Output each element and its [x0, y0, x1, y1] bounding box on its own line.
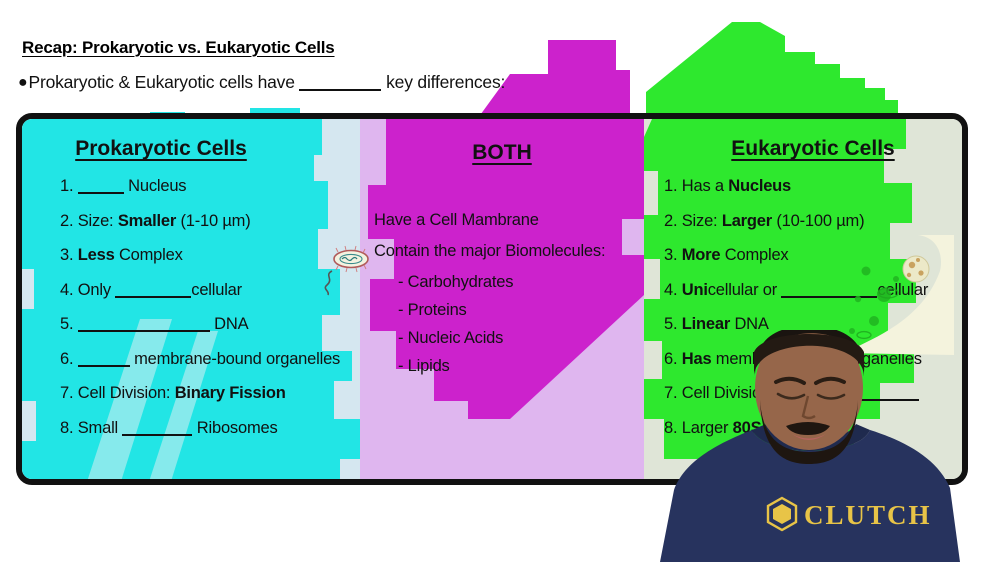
list-item-number: 2. [664, 212, 682, 230]
both-item: Have a Cell Mambrane [374, 211, 605, 230]
list-item-text: Linear DNA [682, 315, 769, 333]
list-item-text: membrane-bound organelles [78, 350, 340, 368]
column-heading-eukaryotic: Eukaryotic Cells [654, 137, 962, 161]
prokaryotic-item: 7. Cell Division: Binary Fission [60, 384, 340, 403]
list-item-text: Nucleus [78, 177, 187, 195]
list-item-number: 8. [60, 419, 78, 437]
bacterium-icon [318, 241, 374, 297]
list-item-text: Only cellular [78, 281, 242, 299]
prokaryotic-item: 1. Nucleus [60, 177, 340, 196]
list-item-text: Less Complex [78, 246, 183, 264]
list-both: Have a Cell MambraneContain the major Bi… [374, 211, 605, 385]
list-item-text: Size: Larger (10-100 µm) [682, 212, 865, 230]
slide-stage: Recap: Prokaryotic vs. Eukaryotic Cells … [0, 0, 1000, 562]
list-item-number: 7. [664, 384, 682, 402]
list-item-text: Size: Smaller (1-10 µm) [78, 212, 251, 230]
list-item-text: Cell Division: Binary Fission [78, 384, 286, 402]
list-item-text: Small Ribosomes [78, 419, 278, 437]
intro-bullet-blank [299, 89, 381, 91]
eukaryotic-item: 1. Has a Nucleus [664, 177, 928, 196]
prokaryotic-item: 3. Less Complex [60, 246, 340, 265]
both-item: - Proteins [398, 301, 605, 320]
prokaryotic-item: 8. Small Ribosomes [60, 419, 340, 438]
list-item-number: 3. [664, 246, 682, 264]
list-item-number: 6. [60, 350, 78, 368]
list-item-text: Larger 80S Ribosomes [682, 419, 847, 437]
bullet-dot-icon: ● [18, 74, 27, 91]
list-item-text: DNA [78, 315, 249, 333]
column-both: BOTH Have a Cell MambraneContain the maj… [360, 119, 644, 479]
list-item-number: 1. [60, 177, 78, 195]
column-heading-both: BOTH [360, 141, 644, 165]
list-prokaryotic: 1. Nucleus2. Size: Smaller (1-10 µm)3. L… [60, 177, 340, 453]
intro-bullet: ●Prokaryotic & Eukaryotic cells have key… [18, 72, 505, 93]
list-item-number: 3. [60, 246, 78, 264]
prokaryotic-item: 5. DNA [60, 315, 340, 334]
list-item-number: 8. [664, 419, 682, 437]
both-item: - Nucleic Acids [398, 329, 605, 348]
list-item-text: Cell Division: [682, 384, 919, 402]
eukaryotic-item: 7. Cell Division: [664, 384, 928, 403]
prokaryotic-item: 4. Only cellular [60, 281, 340, 300]
shirt-logo-text: CLUTCH [804, 500, 932, 530]
page-title: Recap: Prokaryotic vs. Eukaryotic Cells [22, 38, 335, 58]
column-prokaryotic: Prokaryotic Cells 1. Nucleus2. Size: Sma… [22, 119, 360, 479]
list-item-number: 4. [60, 281, 78, 299]
both-item: - Carbohydrates [398, 273, 605, 292]
list-item-number: 2. [60, 212, 78, 230]
green-highlight-stroke-top [640, 22, 970, 117]
prokaryotic-item: 6. membrane-bound organelles [60, 350, 340, 369]
eukaryotic-item: 8. Larger 80S Ribosomes [664, 419, 928, 438]
list-item-number: 6. [664, 350, 682, 368]
list-item-number: 4. [664, 281, 682, 299]
intro-bullet-text-after: key differences: [386, 72, 505, 92]
prokaryotic-item: 2. Size: Smaller (1-10 µm) [60, 212, 340, 231]
column-heading-prokaryotic: Prokaryotic Cells [22, 137, 330, 161]
list-item-number: 1. [664, 177, 682, 195]
eukaryotic-item: 2. Size: Larger (10-100 µm) [664, 212, 928, 231]
list-item-text: Has a Nucleus [682, 177, 791, 195]
comparison-box: Prokaryotic Cells 1. Nucleus2. Size: Sma… [16, 113, 968, 485]
list-item-number: 7. [60, 384, 78, 402]
list-item-number: 5. [60, 315, 78, 333]
intro-bullet-text-before: Prokaryotic & Eukaryotic cells have [28, 72, 294, 92]
list-item-text: More Complex [682, 246, 789, 264]
eukaryotic-cell-icon [844, 235, 954, 355]
list-item-number: 5. [664, 315, 682, 333]
both-item: Contain the major Biomolecules: [374, 242, 605, 261]
both-item: - Lipids [398, 357, 605, 376]
